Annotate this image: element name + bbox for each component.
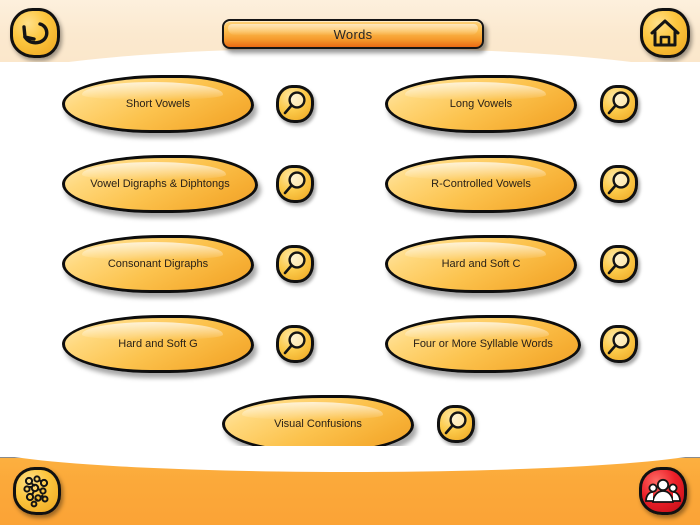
category-button[interactable]: Hard and Soft G [62,315,254,373]
category-search-button[interactable] [600,245,638,283]
home-button[interactable] [640,8,690,58]
category-button-label: Vowel Digraphs & Diphtongs [76,178,243,191]
category-button-label: Visual Confusions [260,418,376,431]
category-button-label: R-Controlled Vowels [417,178,545,191]
category-button[interactable]: Four or More Syllable Words [385,315,581,373]
footer-bar [0,457,700,525]
page-title: Words [334,27,373,42]
category-search-button[interactable] [276,85,314,123]
category-button[interactable]: Short Vowels [62,75,254,133]
category-search-button[interactable] [600,165,638,203]
settings-button[interactable] [13,467,61,515]
category-button[interactable]: Consonant Digraphs [62,235,254,293]
category-grid: Short VowelsLong VowelsVowel Digraphs & … [0,62,700,458]
category-search-button[interactable] [276,245,314,283]
back-arrow-icon [10,8,60,58]
category-search-button[interactable] [600,85,638,123]
category-search-button[interactable] [600,325,638,363]
magnifier-icon [600,245,638,283]
magnifier-icon [276,245,314,283]
category-button[interactable]: Long Vowels [385,75,577,133]
category-button-label: Consonant Digraphs [94,258,222,271]
page-title-pill[interactable]: Words [222,19,484,49]
category-button[interactable]: Visual Confusions [222,395,414,453]
category-button[interactable]: Vowel Digraphs & Diphtongs [62,155,258,213]
category-button-label: Short Vowels [112,98,204,111]
category-button[interactable]: R-Controlled Vowels [385,155,577,213]
category-button[interactable]: Hard and Soft C [385,235,577,293]
back-button[interactable] [10,8,60,58]
header-bar: Words [0,0,700,62]
molecule-cluster-icon [13,467,61,515]
category-button-label: Hard and Soft G [104,338,212,351]
home-icon [640,8,690,58]
users-button[interactable] [639,467,687,515]
category-button-label: Long Vowels [436,98,526,111]
category-button-label: Four or More Syllable Words [399,338,567,351]
magnifier-icon [600,85,638,123]
category-search-button[interactable] [276,165,314,203]
people-group-icon [639,467,687,515]
magnifier-icon [276,325,314,363]
category-button-label: Hard and Soft C [428,258,535,271]
magnifier-icon [437,405,475,443]
magnifier-icon [600,165,638,203]
magnifier-icon [600,325,638,363]
category-search-button[interactable] [276,325,314,363]
footer-top-curve [0,446,700,472]
magnifier-icon [276,165,314,203]
magnifier-icon [276,85,314,123]
header-bottom-curve [0,48,700,62]
category-search-button[interactable] [437,405,475,443]
